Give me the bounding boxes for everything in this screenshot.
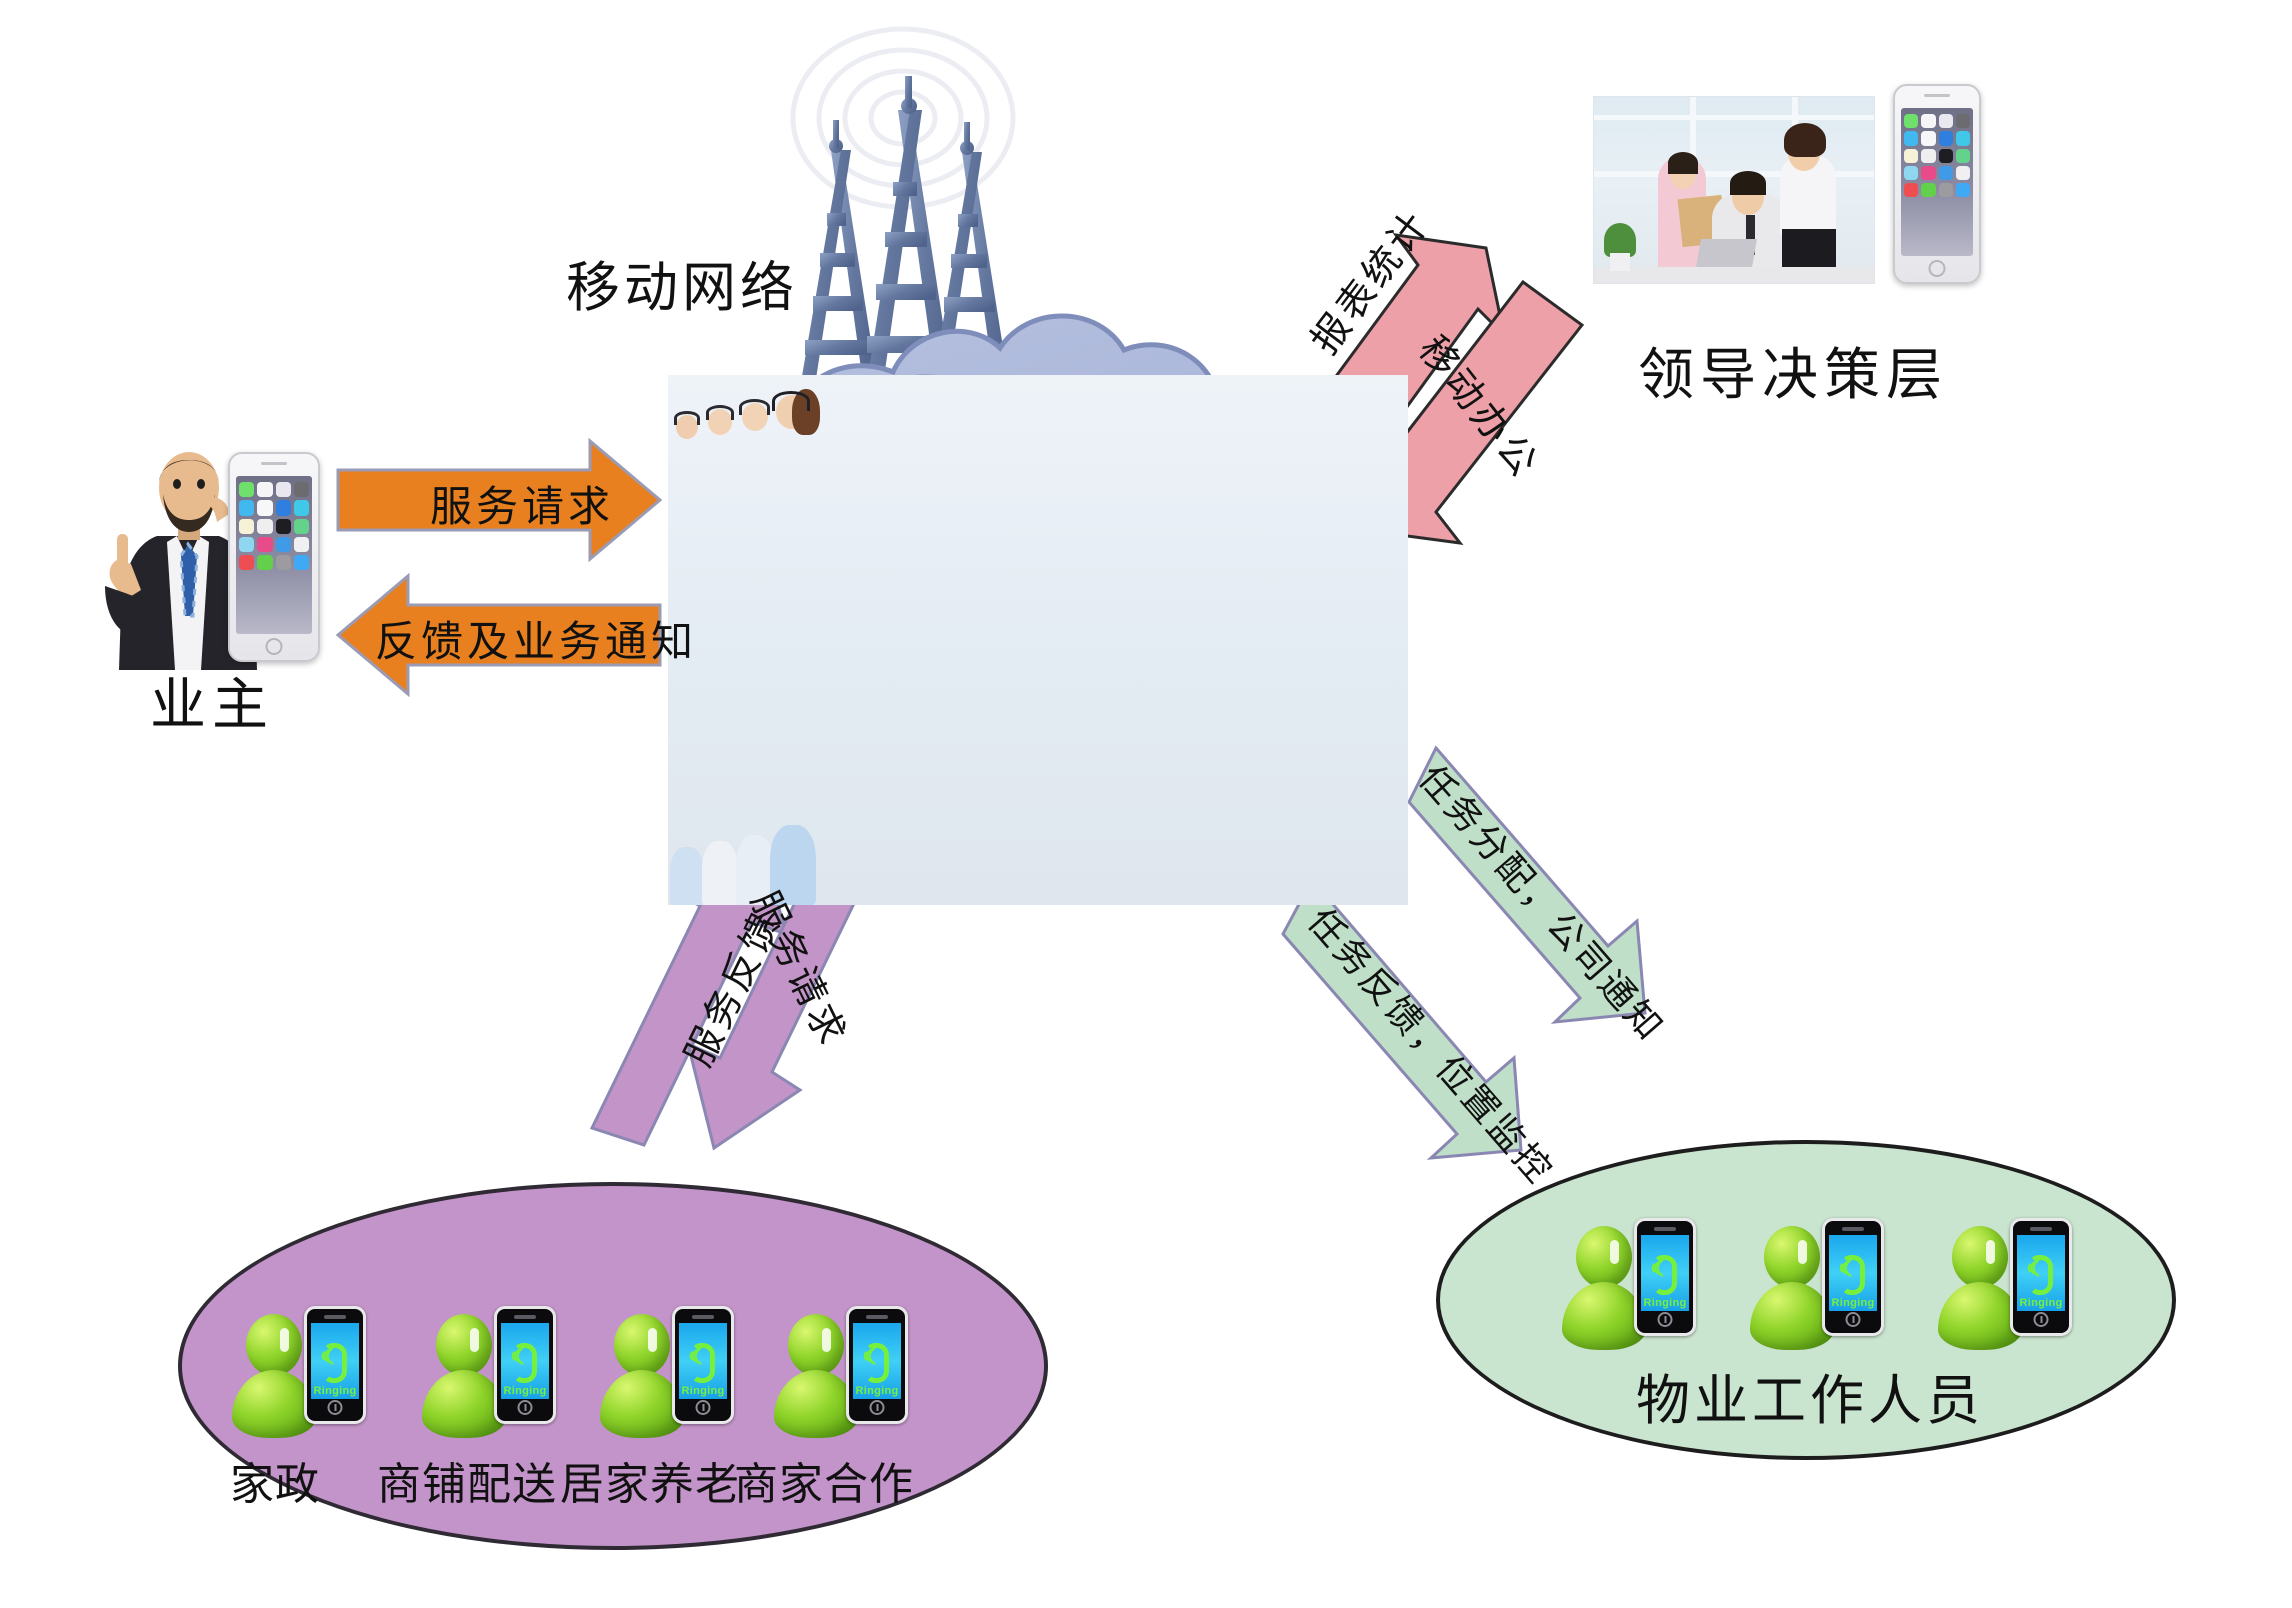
- service-label-merchant-cooperation: 商家合作: [734, 1448, 914, 1512]
- owner-label: 业主: [150, 660, 274, 741]
- cloud-content-group: 物业服务管理系统 Internet 中心客服: [668, 375, 1408, 905]
- service-label-home-elderly-care: 居家养老: [560, 1448, 740, 1512]
- arrow-label-feedback-notice-owner: 反馈及业务通知: [375, 608, 697, 669]
- ringing-phone-icon: Ringing: [2010, 1218, 2072, 1336]
- ringing-phone-icon: Ringing: [494, 1306, 556, 1424]
- phone-status-text: Ringing: [2019, 1297, 2062, 1309]
- phone-status-text: Ringing: [503, 1385, 546, 1397]
- staff-unit: Ringing: [1750, 1218, 1900, 1348]
- ringing-phone-icon: Ringing: [672, 1306, 734, 1424]
- staff-unit: Ringing: [1938, 1218, 2088, 1348]
- service-unit: Ringing: [600, 1306, 750, 1436]
- arrow-label-service-request-owner: 服务请求: [430, 473, 614, 534]
- service-unit: Ringing: [232, 1306, 382, 1436]
- owner-smartphone-icon: [228, 452, 320, 662]
- ringing-phone-icon: Ringing: [1822, 1218, 1884, 1336]
- staff-unit: Ringing: [1562, 1218, 1712, 1348]
- phone-status-text: Ringing: [313, 1385, 356, 1397]
- ringing-phone-icon: Ringing: [1634, 1218, 1696, 1336]
- property-staff-label: 物业工作人员: [1440, 1356, 2180, 1435]
- service-label-housekeeping: 家政: [230, 1448, 320, 1512]
- ringing-phone-icon: Ringing: [304, 1306, 366, 1424]
- service-providers-group: Ringing 家政 Ringing: [178, 1182, 1048, 1550]
- mobile-network-label: 移动网络: [566, 243, 798, 322]
- phone-status-text: Ringing: [1643, 1297, 1686, 1309]
- service-unit: Ringing: [422, 1306, 572, 1436]
- phone-status-text: Ringing: [1831, 1297, 1874, 1309]
- leadership-photo: [1593, 96, 1875, 284]
- diagram-canvas: 移动网络 物业服务管理系统 Internet 中心客服: [0, 0, 2292, 1608]
- service-unit: Ringing: [774, 1306, 924, 1436]
- phone-status-text: Ringing: [681, 1385, 724, 1397]
- leader-label: 领导决策层: [1638, 330, 1948, 411]
- property-staff-group: Ringing Ringing: [1436, 1140, 2176, 1460]
- leader-smartphone-icon: [1893, 84, 1981, 284]
- service-label-shop-delivery: 商铺配送: [377, 1448, 557, 1512]
- phone-status-text: Ringing: [855, 1385, 898, 1397]
- ringing-phone-icon: Ringing: [846, 1306, 908, 1424]
